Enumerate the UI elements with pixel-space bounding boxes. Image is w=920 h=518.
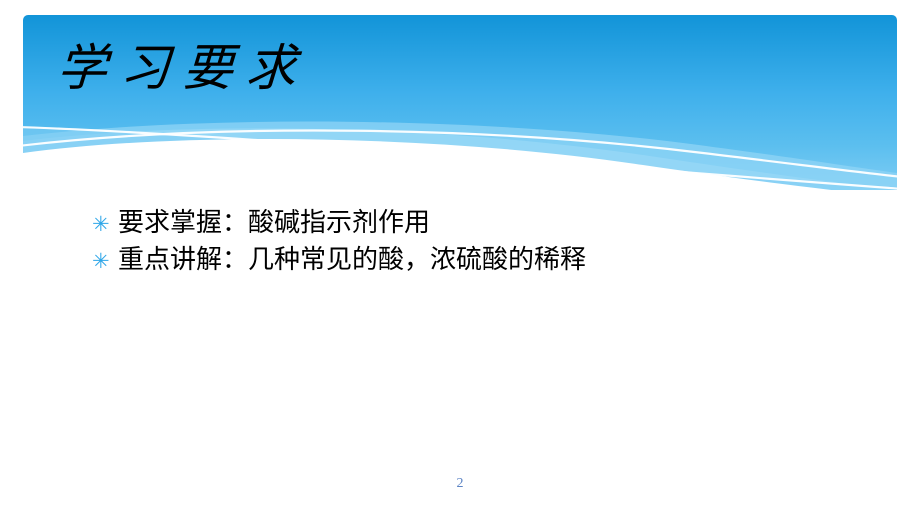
content-body: ✳ 要求掌握：酸碱指示剂作用 ✳ 重点讲解：几种常见的酸，浓硫酸的稀释 <box>92 205 832 279</box>
page-title: 学习要求 <box>55 38 310 98</box>
bullet-text: 重点讲解：几种常见的酸，浓硫酸的稀释 <box>118 242 586 279</box>
bullet-asterisk-icon: ✳ <box>92 243 118 280</box>
bullet-text: 要求掌握：酸碱指示剂作用 <box>118 205 430 242</box>
slide-canvas: 学习要求 ✳ 要求掌握：酸碱指示剂作用 ✳ 重点讲解：几种常见的酸，浓硫酸的稀释… <box>0 0 920 518</box>
list-item: ✳ 重点讲解：几种常见的酸，浓硫酸的稀释 <box>92 242 832 279</box>
list-item: ✳ 要求掌握：酸碱指示剂作用 <box>92 205 832 242</box>
page-number: 2 <box>0 476 920 492</box>
bullet-asterisk-icon: ✳ <box>92 206 118 243</box>
